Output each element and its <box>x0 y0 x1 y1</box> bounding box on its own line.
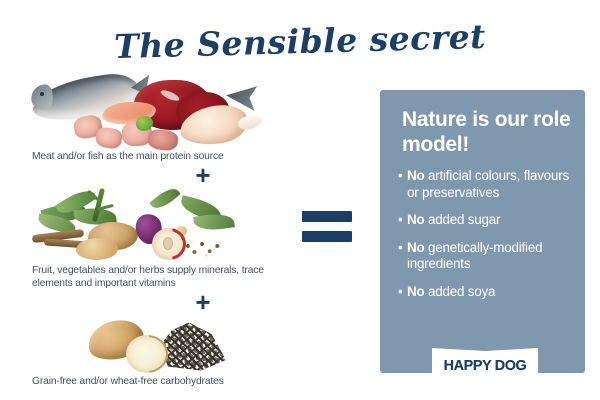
meat-and-fish-photo <box>30 72 280 150</box>
claim-item: • No artificial colours, flavours or pre… <box>398 168 578 201</box>
wild-rice-pile-icon <box>160 323 226 371</box>
ingredient-caption-meat: Meat and/or fish as the main protein sou… <box>14 150 296 164</box>
claims-panel: Nature is our role model! • No artificia… <box>380 90 585 373</box>
herb-leaf-icon <box>149 183 180 212</box>
happy-dog-logo: HAPPY DOG <box>432 348 538 382</box>
claim-emphasis: No <box>407 212 424 227</box>
plus-operator-2: + <box>14 292 296 312</box>
ingredient-row-carbohydrates: Grain-free and/or wheat-free carbohydrat… <box>14 313 296 389</box>
page-title: The Sensible secret <box>0 14 600 70</box>
claim-text: No artificial colours, flavours or prese… <box>407 168 578 201</box>
claim-text: No genetically-modified ingredients <box>407 240 578 273</box>
panel-heading: Nature is our role model! <box>402 107 574 157</box>
claim-rest: added soya <box>424 284 495 299</box>
meat-cube-icon <box>95 126 124 149</box>
claim-emphasis: No <box>407 240 424 255</box>
plus-operator-1: + <box>14 165 296 185</box>
claim-item: • No added soya <box>398 284 578 301</box>
ingredient-caption-carbohydrates: Grain-free and/or wheat-free carbohydrat… <box>14 375 296 389</box>
equals-bar-bottom <box>302 231 352 242</box>
claims-list: • No artificial colours, flavours or pre… <box>398 168 578 311</box>
ingredients-column: Meat and/or fish as the main protein sou… <box>14 72 296 388</box>
ingredient-caption-vegetables: Fruit, vegetables and/or herbs supply mi… <box>14 264 296 291</box>
meat-cube-icon <box>147 128 179 151</box>
claim-emphasis: No <box>407 168 424 183</box>
bullet-dot-icon: • <box>398 212 407 229</box>
equals-operator <box>302 211 352 242</box>
seeds-icon <box>182 238 224 258</box>
salmon-eye-icon <box>40 92 44 96</box>
equals-bar-top <box>302 211 352 222</box>
bullet-dot-icon: • <box>398 240 407 273</box>
claim-item: • No genetically-modified ingredients <box>398 240 578 273</box>
claim-rest: artificial colours, flavours or preserva… <box>407 168 569 200</box>
ingredient-row-vegetables: Fruit, vegetables and/or herbs supply mi… <box>14 186 296 312</box>
claim-rest: added sugar <box>424 212 500 227</box>
bullet-dot-icon: • <box>398 284 407 301</box>
claim-rest: genetically-modified ingredients <box>407 240 542 272</box>
logo-text: HAPPY DOG <box>434 348 536 382</box>
potato-icon <box>76 238 118 260</box>
claim-text: No added soya <box>407 284 578 301</box>
apple-core-icon <box>164 238 172 249</box>
claim-item: • No added sugar <box>398 212 578 229</box>
claim-text: No added sugar <box>407 212 578 229</box>
ingredient-row-meat: Meat and/or fish as the main protein sou… <box>14 72 296 185</box>
infographic-canvas: The Sensible secret Meat an <box>0 0 600 400</box>
potato-and-rice-photo <box>30 313 280 375</box>
bullet-dot-icon: • <box>398 168 407 201</box>
fruit-vegetables-herbs-photo <box>30 186 280 264</box>
claim-emphasis: No <box>407 284 424 299</box>
